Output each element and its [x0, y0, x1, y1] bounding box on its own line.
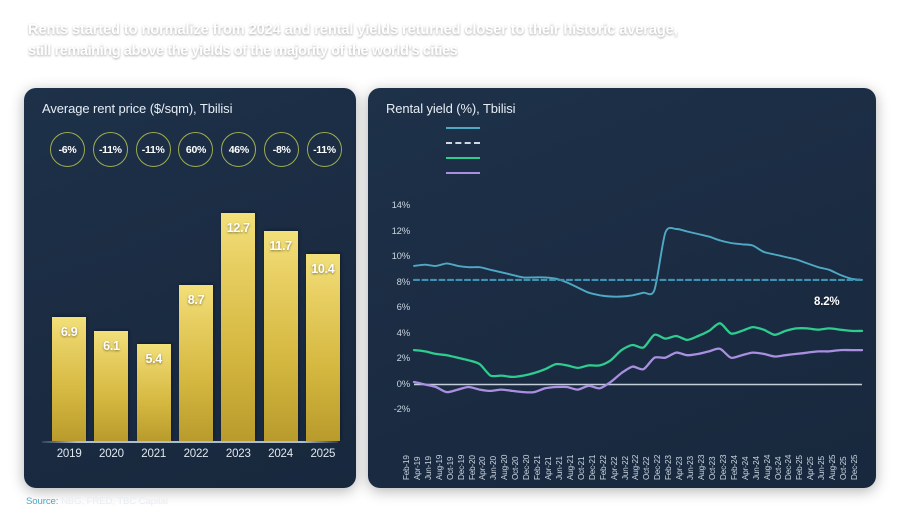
bar-x-label: 2022	[175, 448, 217, 460]
yoy-badge: -6%	[50, 132, 85, 167]
x-axis-tick-label: Apr-25	[806, 457, 815, 480]
page-title: Rents started to normalize from 2024 and…	[28, 20, 873, 62]
x-axis-tick-label: Aug-23	[697, 455, 706, 480]
x-axis-tick-label: Dec-24	[784, 455, 793, 480]
x-axis-tick-label: Apr-19	[413, 457, 422, 480]
slide-canvas: Rents started to normalize from 2024 and…	[0, 0, 900, 524]
yoy-badge: -8%	[264, 132, 299, 167]
bar-value-label: 6.9	[52, 325, 86, 339]
x-axis-tick-label: Dec-19	[457, 455, 466, 480]
x-axis-tick-label: Oct-24	[774, 457, 783, 480]
yoy-badge: 46%	[221, 132, 256, 167]
x-axis-tick-label: Apr-21	[544, 457, 553, 480]
x-axis-tick-label: Oct-25	[839, 457, 848, 480]
x-axis-tick-label: Feb-22	[599, 455, 608, 480]
left-chart-title: Average rent price ($/sqm), Tbilisi	[42, 101, 232, 116]
x-axis-tick-label: Jun-25	[817, 456, 826, 480]
x-axis-tick-label: Dec-22	[653, 455, 662, 480]
x-axis-tick-label: Dec-23	[719, 455, 728, 480]
x-axis-tick-label: Feb-21	[533, 455, 542, 480]
bar-x-label: 2020	[90, 448, 132, 460]
x-axis-tick-label: Oct-22	[642, 457, 651, 480]
x-axis-tick-label: Feb-20	[468, 455, 477, 480]
bar-x-label: 2019	[48, 448, 90, 460]
x-axis-tick-label: Oct-20	[511, 457, 520, 480]
bar-value-label: 11.7	[264, 239, 298, 253]
x-axis-tick-label: Jun-22	[621, 456, 630, 480]
x-axis-tick-label: Feb-19	[402, 455, 411, 480]
x-axis-tick-label: Apr-20	[478, 457, 487, 480]
bar-x-label: 2021	[133, 448, 175, 460]
yoy-badge: -11%	[93, 132, 128, 167]
source-label: Source:	[26, 496, 58, 507]
x-axis-tick-label: Aug-20	[500, 455, 509, 480]
bar-chart-axis-line	[42, 441, 338, 443]
bar	[221, 213, 255, 441]
x-axis-tick-label: Aug-25	[828, 455, 837, 480]
headline-line-1: Rents started to normalize from 2024 and…	[28, 20, 873, 41]
bar-value-label: 5.4	[137, 352, 171, 366]
x-axis-tick-label: Aug-24	[763, 455, 772, 480]
yoy-badge: 60%	[178, 132, 213, 167]
left-chart-panel: Average rent price ($/sqm), Tbilisi -6%-…	[24, 88, 356, 488]
bar-x-label: 2024	[260, 448, 302, 460]
x-axis-tick-label: Dec-21	[588, 455, 597, 480]
yoy-badge-row: -6%-11%-11%60%46%-8%-11%	[50, 132, 342, 167]
x-axis-tick-label: Apr-22	[610, 457, 619, 480]
bar	[179, 285, 213, 441]
source-note: Source: NBG, FRED, TBC Capital	[26, 496, 168, 507]
x-axis-tick-label: Feb-24	[730, 455, 739, 480]
bar-x-label: 2023	[217, 448, 259, 460]
x-axis-tick-label: Feb-25	[795, 455, 804, 480]
source-value: NBG, FRED, TBC Capital	[61, 496, 168, 507]
yoy-badge: -11%	[307, 132, 342, 167]
right-chart-panel: Rental yield (%), Tbilisi 14%12%10%8%6%4…	[368, 88, 876, 488]
x-axis-tick-label: Jun-21	[555, 456, 564, 480]
line-chart-x-labels: Feb-19Apr-19Jun-19Aug-19Oct-19Dec-19Feb-…	[368, 88, 876, 488]
x-axis-tick-label: Jun-19	[424, 456, 433, 480]
headline-line-2: still remaining above the yields of the …	[28, 41, 873, 62]
x-axis-tick-label: Jun-23	[686, 456, 695, 480]
x-axis-tick-label: Oct-21	[577, 457, 586, 480]
x-axis-tick-label: Apr-24	[741, 457, 750, 480]
bar	[306, 254, 340, 441]
x-axis-tick-label: Oct-19	[446, 457, 455, 480]
bar-chart-x-labels: 2019202020212022202320242025	[48, 448, 344, 470]
bar-value-label: 6.1	[94, 339, 128, 353]
bar-x-label: 2025	[302, 448, 344, 460]
x-axis-tick-label: Oct-23	[708, 457, 717, 480]
x-axis-tick-label: Jun-24	[752, 456, 761, 480]
yoy-badge: -11%	[136, 132, 171, 167]
x-axis-tick-label: Aug-22	[631, 455, 640, 480]
x-axis-tick-label: Apr-23	[675, 457, 684, 480]
x-axis-tick-label: Jun-20	[489, 456, 498, 480]
x-axis-tick-label: Feb-23	[664, 455, 673, 480]
bar-chart-plot: 6.96.15.48.712.711.710.4	[48, 186, 344, 441]
x-axis-tick-label: Aug-21	[566, 455, 575, 480]
bar	[264, 231, 298, 441]
x-axis-tick-label: Aug-19	[435, 455, 444, 480]
bar-value-label: 8.7	[179, 293, 213, 307]
bar-value-label: 10.4	[306, 262, 340, 276]
x-axis-tick-label: Dec-20	[522, 455, 531, 480]
bar-value-label: 12.7	[221, 221, 255, 235]
x-axis-tick-label: Dec-25	[850, 455, 859, 480]
